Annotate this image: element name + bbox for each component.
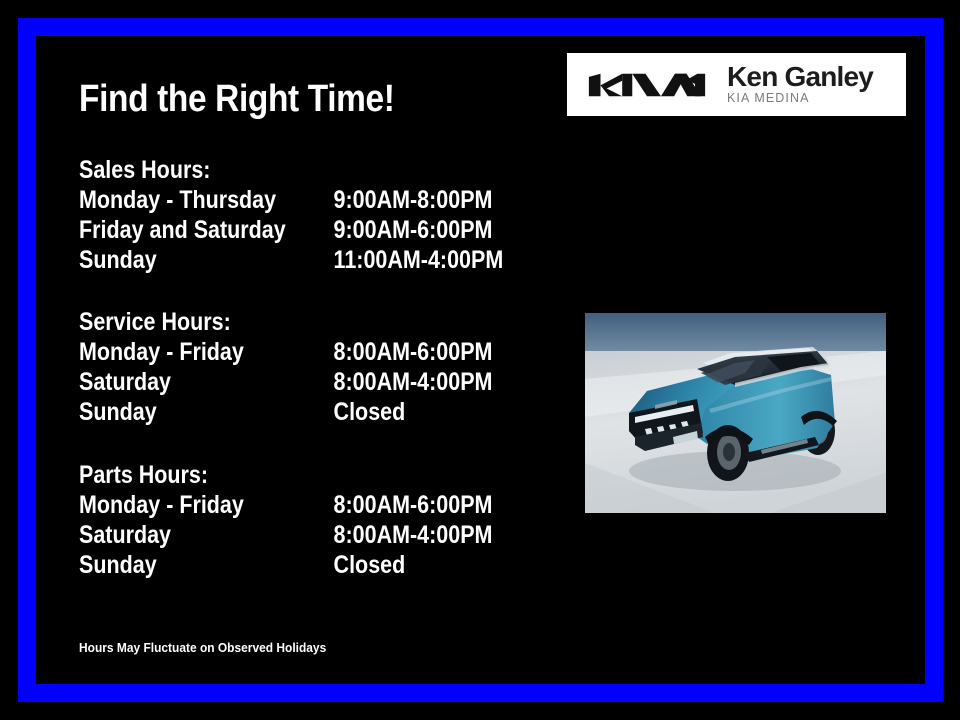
hours-section-parts: Parts Hours: Monday - Friday 8:00AM-6:00…	[79, 460, 549, 580]
hours-row-time: Closed	[334, 550, 406, 580]
hours-row-time: 11:00AM-4:00PM	[334, 245, 504, 275]
hours-row-time: 8:00AM-4:00PM	[334, 520, 493, 550]
hours-row: Friday and Saturday 9:00AM-6:00PM	[79, 215, 483, 245]
hours-row: Sunday 11:00AM-4:00PM	[79, 245, 483, 275]
hours-row-time: 8:00AM-4:00PM	[334, 367, 493, 397]
hours-row: Saturday 8:00AM-4:00PM	[79, 367, 483, 397]
dealer-logo-text: Ken Ganley KIA MEDINA	[727, 63, 873, 106]
hours-row-time: 9:00AM-8:00PM	[334, 185, 493, 215]
hours-row-days: Saturday	[79, 520, 171, 550]
hours-section-title: Sales Hours:	[79, 155, 483, 185]
holiday-disclaimer: Hours May Fluctuate on Observed Holidays	[79, 640, 326, 655]
hours-row-time: Closed	[334, 397, 406, 427]
hours-section-title: Parts Hours:	[79, 460, 483, 490]
vehicle-photo-artwork	[585, 313, 886, 513]
hours-row-time: 9:00AM-6:00PM	[334, 215, 493, 245]
hours-section-service: Service Hours: Monday - Friday 8:00AM-6:…	[79, 307, 549, 427]
hours-row-days: Sunday	[79, 397, 157, 427]
hours-row-days: Friday and Saturday	[79, 215, 286, 245]
hours-row-days: Sunday	[79, 245, 157, 275]
hours-row: Saturday 8:00AM-4:00PM	[79, 520, 483, 550]
hours-row: Monday - Thursday 9:00AM-8:00PM	[79, 185, 483, 215]
hours-row: Sunday Closed	[79, 550, 483, 580]
dealer-name: Ken Ganley	[727, 63, 873, 92]
hours-row-days: Monday - Friday	[79, 337, 244, 367]
hours-row-days: Monday - Friday	[79, 490, 244, 520]
hours-row-time: 8:00AM-6:00PM	[334, 337, 493, 367]
hours-row-time: 8:00AM-6:00PM	[334, 490, 493, 520]
kia-ev9-suv-photo	[585, 313, 886, 513]
slide-canvas: Find the Right Time! Sales Hours: Monday…	[0, 0, 960, 720]
dealer-subtitle: KIA MEDINA	[727, 92, 873, 106]
slide-content: Find the Right Time! Sales Hours: Monday…	[0, 0, 960, 720]
hours-row-days: Sunday	[79, 550, 157, 580]
kia-logo-icon	[585, 68, 709, 102]
hours-section-title: Service Hours:	[79, 307, 483, 337]
hours-row-days: Monday - Thursday	[79, 185, 276, 215]
hours-row: Monday - Friday 8:00AM-6:00PM	[79, 490, 483, 520]
hours-row: Sunday Closed	[79, 397, 483, 427]
hours-row-days: Saturday	[79, 367, 171, 397]
hours-section-sales: Sales Hours: Monday - Thursday 9:00AM-8:…	[79, 155, 549, 275]
dealer-logo-card: Ken Ganley KIA MEDINA	[567, 53, 906, 116]
page-title: Find the Right Time!	[79, 78, 395, 121]
hours-row: Monday - Friday 8:00AM-6:00PM	[79, 337, 483, 367]
